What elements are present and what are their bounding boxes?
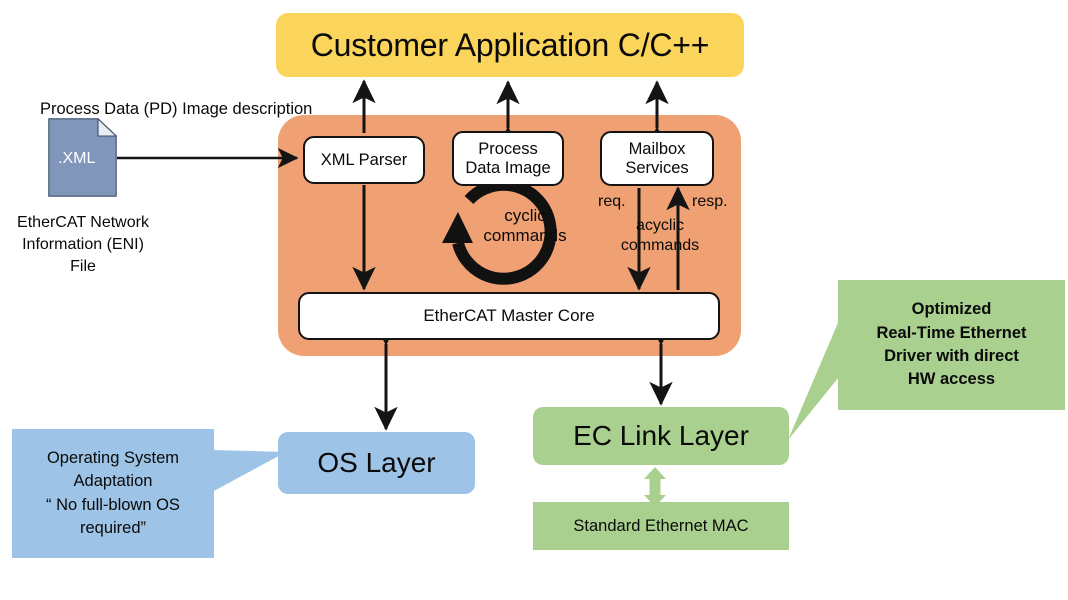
mailbox-services-label: Mailbox Services (625, 140, 688, 177)
driver-callout[interactable]: Optimized Real-Time Ethernet Driver with… (838, 280, 1065, 410)
xml-file-label: .XML (58, 150, 95, 168)
customer-application-box[interactable]: Customer Application C/C++ (276, 13, 744, 77)
process-data-image-label: Process Data Image (465, 140, 550, 177)
process-data-image-box[interactable]: Process Data Image (452, 131, 564, 186)
pd-image-description-label: Process Data (PD) Image description (40, 100, 340, 119)
driver-callout-tail (788, 318, 843, 440)
xml-file-icon[interactable]: .XML (48, 118, 117, 197)
arrow-ec-link-to-mac (644, 467, 666, 507)
ec-link-layer-box[interactable]: EC Link Layer (533, 407, 789, 465)
request-label: req. (598, 193, 626, 211)
standard-ethernet-mac-box[interactable]: Standard Ethernet MAC (533, 502, 789, 550)
customer-application-label: Customer Application C/C++ (311, 27, 710, 64)
os-adaptation-callout[interactable]: Operating System Adaptation “ No full-bl… (12, 429, 214, 558)
driver-callout-label: Optimized Real-Time Ethernet Driver with… (876, 298, 1026, 392)
mailbox-services-box[interactable]: Mailbox Services (600, 131, 714, 186)
os-layer-label: OS Layer (317, 447, 435, 479)
acyclic-commands-label: acyclic commands (597, 216, 723, 255)
response-label: resp. (692, 193, 728, 211)
os-callout-tail (212, 450, 286, 492)
diagram-canvas: Customer Application C/C++ .XML Process … (0, 0, 1068, 600)
ethercat-master-core-box[interactable]: EtherCAT Master Core (298, 292, 720, 340)
standard-ethernet-mac-label: Standard Ethernet MAC (573, 517, 748, 536)
ethercat-master-core-label: EtherCAT Master Core (423, 306, 594, 325)
xml-parser-label: XML Parser (321, 151, 408, 169)
cyclic-commands-label: cyclic commands (470, 206, 580, 247)
os-adaptation-callout-label: Operating System Adaptation “ No full-bl… (46, 447, 180, 539)
xml-parser-box[interactable]: XML Parser (303, 136, 425, 184)
ec-link-layer-label: EC Link Layer (573, 420, 749, 452)
eni-file-caption: EtherCAT Network Information (ENI) File (2, 212, 164, 278)
os-layer-box[interactable]: OS Layer (278, 432, 475, 494)
